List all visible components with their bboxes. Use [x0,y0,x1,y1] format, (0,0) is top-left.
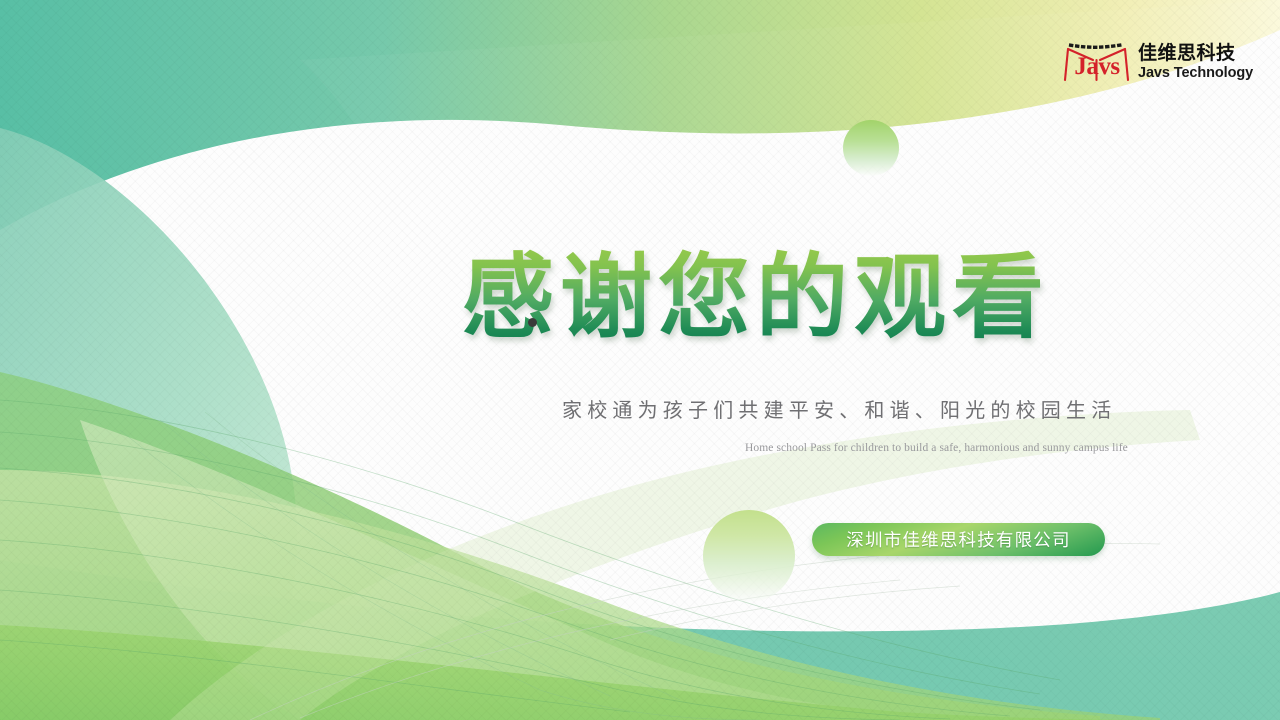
presentation-slide: Javs 佳维思科技 Javs Technology 感谢您的观看 家校通为孩子… [0,0,1280,720]
company-name-badge: 深圳市佳维思科技有限公司 [812,523,1105,556]
logo-company-name-cn: 佳维思科技 [1138,44,1253,65]
slide-title: 感谢您的观看 [462,243,1050,353]
javs-logo-mark-icon: Javs [1063,40,1131,84]
slide-subtitle-english: Home school Pass for children to build a… [745,442,1128,454]
logo-company-name-en: Javs Technology [1138,66,1253,82]
company-name-badge-label: 深圳市佳维思科技有限公司 [846,527,1070,552]
logo-text-block: 佳维思科技 Javs Technology [1138,42,1253,82]
logo-wordmark: Javs [1063,52,1131,82]
cursor-dot-icon [528,318,537,327]
slide-subtitle-chinese: 家校通为孩子们共建平安、和谐、阳光的校园生活 [562,394,1116,423]
background-artwork [0,0,1280,720]
company-logo: Javs 佳维思科技 Javs Technology [1063,40,1253,84]
